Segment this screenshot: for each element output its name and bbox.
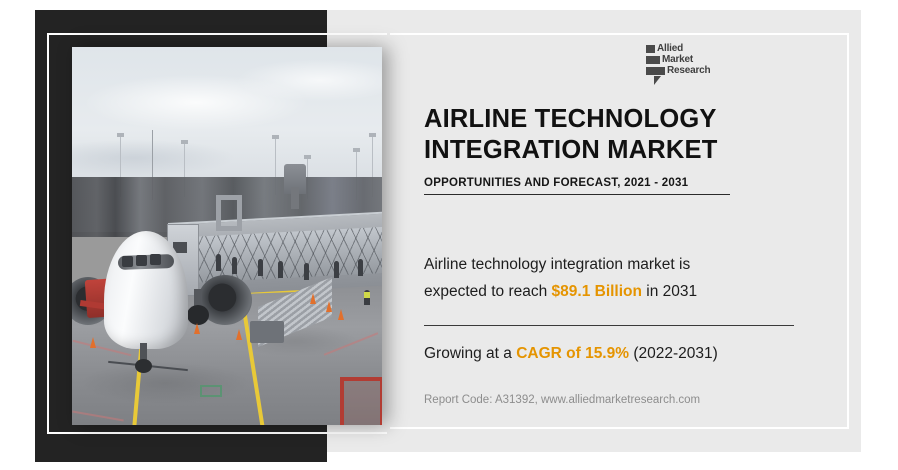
cagr-value: CAGR of 15.9% [516,345,629,362]
photo-light-mast-head [304,155,311,159]
photo-passenger [334,261,339,278]
photo-ground-crew-vest [364,292,370,298]
photo-traffic-cone [338,309,344,320]
photo-cockpit-pane [136,255,147,266]
photo-light-mast-head [369,133,376,137]
photo-apron-marking-box [200,385,222,397]
section-divider [424,325,794,326]
report-code-footer: Report Code: A31392, www.alliedmarketres… [424,394,796,406]
photo-traffic-cone [90,337,96,348]
logo-word-research: Research [667,66,710,76]
content-block: Allied Market Research AIRLINE TECHNOLOG… [424,40,796,406]
logo-word-allied: Allied [657,44,683,54]
logo-bubble-tail [654,76,661,85]
title-line-2: INTEGRATION MARKET [424,135,796,166]
photo-jet-bridge-support [216,195,242,231]
market-size-trail: in 2031 [642,283,697,300]
cagr-lead: Growing at a [424,345,516,362]
photo-traffic-cone [236,329,242,340]
photo-light-mast-head [353,148,360,152]
photo-main-wheel [187,305,209,325]
photo-traffic-cone [310,293,316,304]
logo-bar [646,56,660,64]
logo-bar [646,45,655,53]
photo-passenger [278,261,283,278]
subtitle-container: OPPORTUNITIES AND FORECAST, 2021 - 2031 [424,177,730,195]
cagr-trail: (2022-2031) [629,345,718,362]
allied-market-research-logo: Allied Market Research [644,40,720,84]
photo-nose-wheel [135,359,152,373]
market-size-value: $89.1 Billion [552,283,642,300]
photo-passenger [358,259,363,276]
photo-light-mast-head [272,135,279,139]
photo-airstairs-chassis [250,321,284,343]
photo-traffic-cone [194,323,200,334]
photo-cockpit-pane [122,256,133,267]
airport-photo [72,47,382,425]
logo-row-3: Research [646,65,710,76]
photo-light-mast-head [181,140,188,144]
market-size-lead-2: expected to reach [424,283,552,300]
subtitle: OPPORTUNITIES AND FORECAST, 2021 - 2031 [424,177,730,189]
logo-word-market: Market [662,55,693,65]
logo-row-2: Market [646,54,693,65]
promo-banner: Allied Market Research AIRLINE TECHNOLOG… [0,0,898,470]
photo-passenger [304,263,309,280]
photo-maintenance-rig [340,377,382,425]
photo-control-tower-base [291,187,299,209]
cagr-statement: Growing at a CAGR of 15.9% (2022-2031) [424,345,796,363]
logo-bar [646,67,665,75]
market-size-statement: Airline technology integration market is… [424,251,784,305]
page-title: AIRLINE TECHNOLOGY INTEGRATION MARKET [424,104,796,166]
photo-cockpit-pane [150,254,161,265]
market-size-lead: Airline technology integration market is [424,256,690,273]
logo-row-1: Allied [646,43,683,54]
photo-passenger [258,259,263,276]
title-line-1: AIRLINE TECHNOLOGY [424,104,796,135]
photo-passenger [232,257,237,274]
photo-passenger [216,254,221,271]
photo-traffic-cone [326,301,332,312]
photo-light-mast-head [117,133,124,137]
